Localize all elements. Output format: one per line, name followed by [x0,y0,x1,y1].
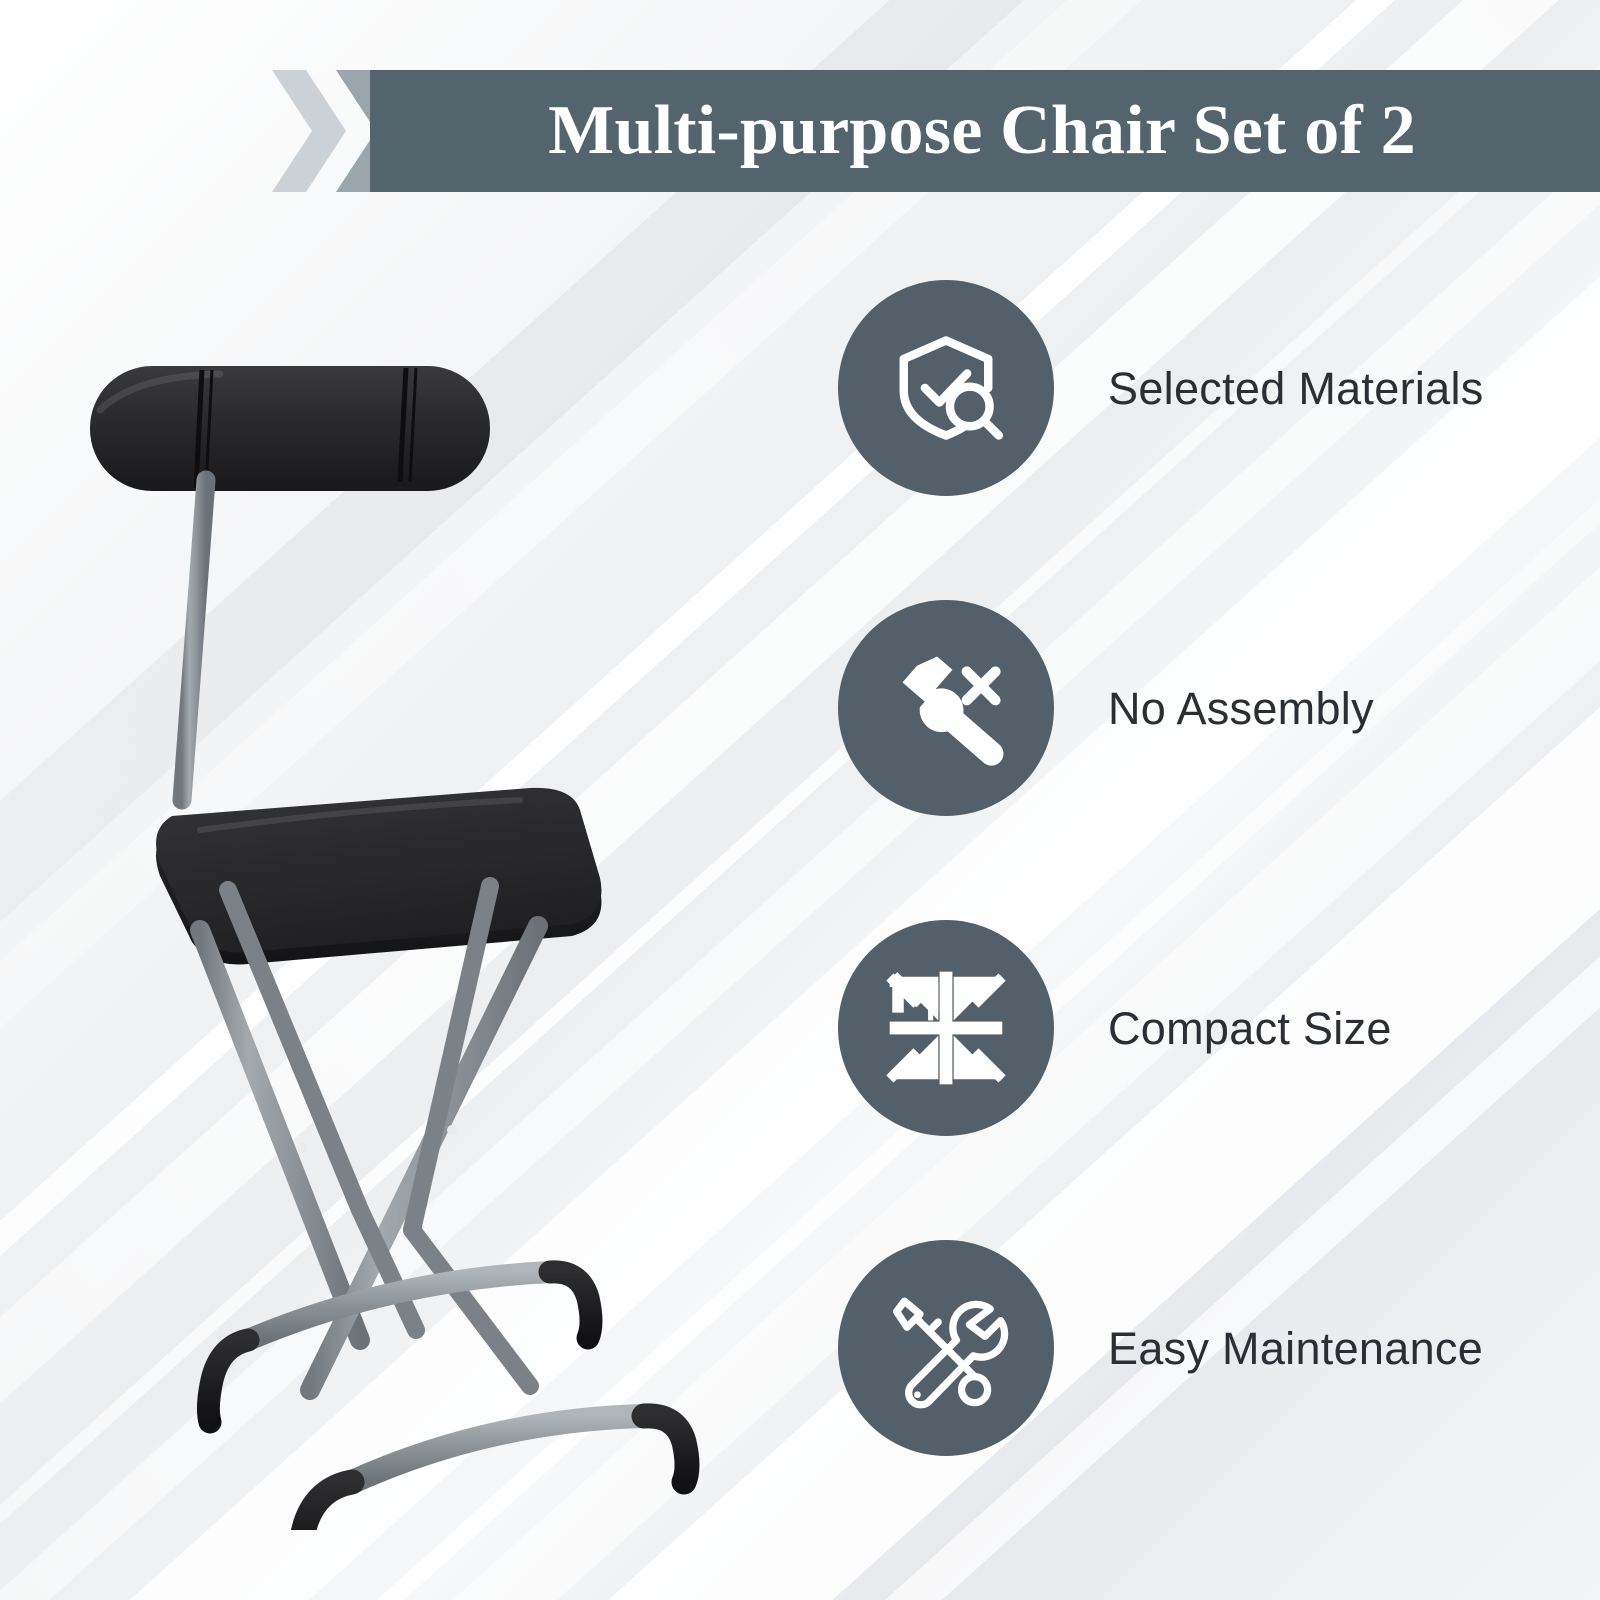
feature-item-selected-materials: Selected Materials [838,272,1578,504]
screwdriver-wrench-icon [838,1240,1054,1456]
compress-arrows-icon [838,920,1054,1136]
chair-leg-frame [200,886,538,1390]
chevron-outer-icon [272,70,346,192]
chair-backrest [90,366,490,491]
feature-item-easy-maintenance: Easy Maintenance [838,1232,1578,1464]
product-image-folding-chair [60,330,740,1530]
feature-label: Compact Size [1108,1006,1392,1051]
foot-cap-rear-right [550,1272,591,1338]
feature-label: Easy Maintenance [1108,1326,1483,1371]
foot-cap-rear-left [208,1340,248,1422]
wrench-x-icon [838,600,1054,816]
foot-cap-front-left [301,1482,352,1530]
feature-label: Selected Materials [1108,366,1484,411]
page-title: Multi-purpose Chair Set of 2 [370,70,1594,192]
shield-check-search-icon [838,280,1054,496]
foot-cap-front-right [644,1416,687,1482]
infographic-page: Multi-purpose Chair Set of 2 [0,0,1600,1600]
header-banner: Multi-purpose Chair Set of 2 [370,70,1600,192]
feature-item-no-assembly: No Assembly [838,592,1578,824]
feature-item-compact-size: Compact Size [838,912,1578,1144]
chair-foot-rail-front [301,1416,687,1530]
feature-label: No Assembly [1108,686,1374,731]
feature-list: Selected Materials No Assembly [838,272,1578,1492]
chair-back-posts [182,476,412,800]
chair-foot-rail-rear [208,1272,591,1422]
